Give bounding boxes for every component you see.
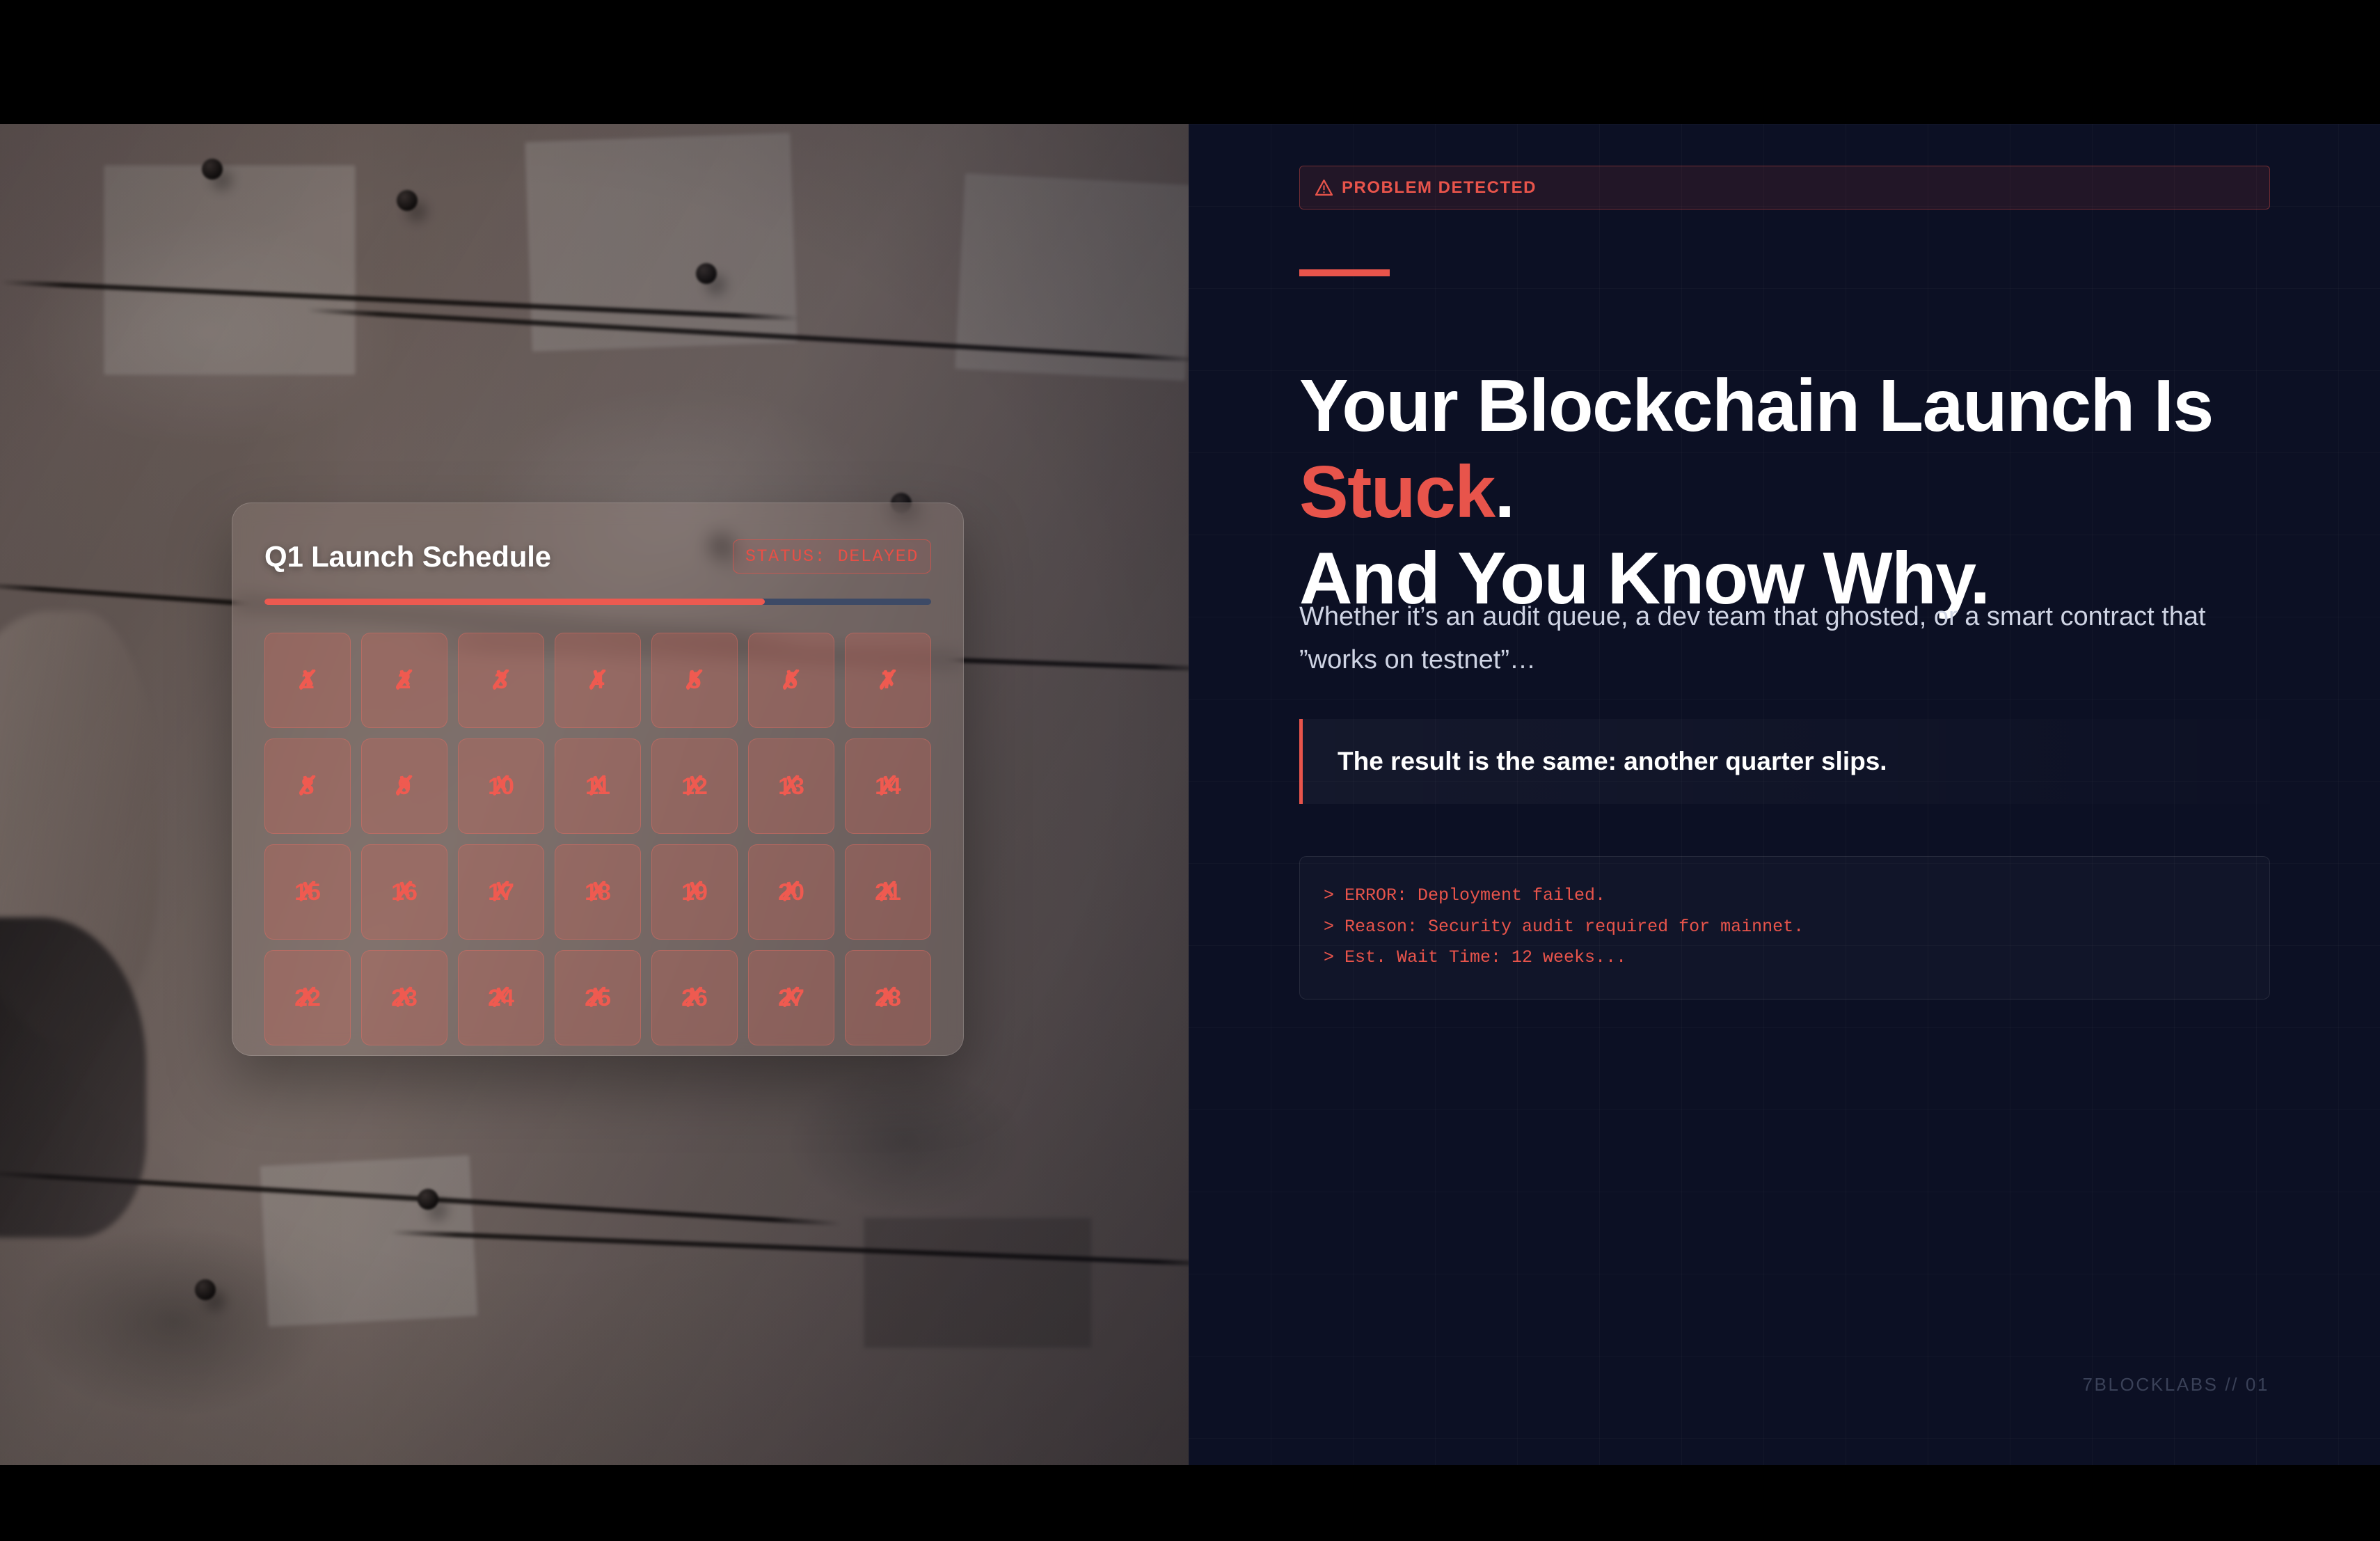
cross-out-icon: ✗ — [490, 667, 512, 694]
cross-out-icon: ✗ — [587, 879, 609, 906]
schedule-cell[interactable]: 18✗ — [555, 844, 641, 940]
schedule-cell[interactable]: 21✗ — [845, 844, 931, 940]
schedule-cell[interactable]: 12✗ — [651, 738, 738, 834]
page-title: Your Blockchain Launch Is Stuck. And You… — [1299, 363, 2270, 622]
cross-out-icon: ✗ — [490, 773, 512, 800]
schedule-cell[interactable]: 24✗ — [458, 950, 544, 1045]
schedule-cell[interactable]: 25✗ — [555, 950, 641, 1045]
headline-line-1: Your Blockchain Launch Is — [1299, 365, 2213, 447]
progress-bar-track — [264, 599, 931, 605]
accent-rule — [1299, 269, 1390, 276]
cross-out-icon: ✗ — [877, 985, 899, 1011]
cross-out-icon: ✗ — [780, 985, 802, 1011]
cross-out-icon: ✗ — [393, 879, 415, 906]
cross-out-icon: ✗ — [393, 773, 415, 800]
schedule-cell[interactable]: 16✗ — [361, 844, 447, 940]
warning-triangle-icon — [1315, 180, 1333, 196]
error-terminal: > ERROR: Deployment failed.> Reason: Sec… — [1299, 856, 2270, 999]
schedule-cell[interactable]: 23✗ — [361, 950, 447, 1045]
slide-content-band: Q1 Launch Schedule STATUS: DELAYED 1✗2✗3… — [0, 124, 2380, 1465]
footer-brand-mark: 7BLOCKLABS // 01 — [2082, 1374, 2269, 1396]
schedule-cell[interactable]: 17✗ — [458, 844, 544, 940]
cross-out-icon: ✗ — [296, 667, 319, 694]
cross-out-icon: ✗ — [296, 773, 319, 800]
cross-out-icon: ✗ — [296, 985, 319, 1011]
card-header: Q1 Launch Schedule STATUS: DELAYED — [264, 539, 931, 574]
panel-content: PROBLEM DETECTED Your Blockchain Launch … — [1299, 124, 2270, 1465]
card-title: Q1 Launch Schedule — [264, 540, 551, 574]
schedule-cell[interactable]: 22✗ — [264, 950, 351, 1045]
cross-out-icon: ✗ — [877, 773, 899, 800]
schedule-cell[interactable]: 6✗ — [748, 633, 834, 728]
schedule-cell[interactable]: 19✗ — [651, 844, 738, 940]
content-panel: PROBLEM DETECTED Your Blockchain Launch … — [1189, 124, 2380, 1465]
cross-out-icon: ✗ — [393, 667, 415, 694]
cross-out-icon: ✗ — [877, 879, 899, 906]
terminal-line: > ERROR: Deployment failed. — [1324, 880, 2246, 912]
schedule-cell[interactable]: 9✗ — [361, 738, 447, 834]
schedule-grid: 1✗2✗3✗4✗5✗6✗7✗8✗9✗10✗11✗12✗13✗14✗15✗16✗1… — [264, 633, 931, 1045]
cross-out-icon: ✗ — [780, 773, 802, 800]
schedule-cell[interactable]: 7✗ — [845, 633, 931, 728]
schedule-cell[interactable]: 1✗ — [264, 633, 351, 728]
result-callout: The result is the same: another quarter … — [1299, 719, 2270, 804]
schedule-cell[interactable]: 3✗ — [458, 633, 544, 728]
schedule-cell[interactable]: 13✗ — [748, 738, 834, 834]
schedule-cell[interactable]: 20✗ — [748, 844, 834, 940]
subtext-paragraph: Whether it’s an audit queue, a dev team … — [1299, 596, 2232, 681]
progress-bar-fill — [264, 599, 765, 605]
cross-out-icon: ✗ — [490, 985, 512, 1011]
terminal-line: > Reason: Security audit required for ma… — [1324, 912, 2246, 943]
schedule-cell[interactable]: 8✗ — [264, 738, 351, 834]
result-callout-text: The result is the same: another quarter … — [1338, 747, 1887, 776]
schedule-cell[interactable]: 26✗ — [651, 950, 738, 1045]
schedule-cell[interactable]: 5✗ — [651, 633, 738, 728]
cross-out-icon: ✗ — [683, 985, 706, 1011]
background-photo-panel: Q1 Launch Schedule STATUS: DELAYED 1✗2✗3… — [0, 124, 1189, 1465]
schedule-cell[interactable]: 27✗ — [748, 950, 834, 1045]
cross-out-icon: ✗ — [296, 879, 319, 906]
cross-out-icon: ✗ — [587, 667, 609, 694]
slide-canvas: Q1 Launch Schedule STATUS: DELAYED 1✗2✗3… — [0, 0, 2380, 1541]
terminal-line: > Est. Wait Time: 12 weeks... — [1324, 942, 2246, 974]
problem-detected-banner: PROBLEM DETECTED — [1299, 166, 2270, 210]
schedule-cell[interactable]: 28✗ — [845, 950, 931, 1045]
headline-accent-word: Stuck — [1299, 451, 1495, 533]
problem-detected-label: PROBLEM DETECTED — [1342, 178, 1537, 198]
cross-out-icon: ✗ — [683, 879, 706, 906]
cross-out-icon: ✗ — [587, 773, 609, 800]
cross-out-icon: ✗ — [683, 773, 706, 800]
launch-schedule-card[interactable]: Q1 Launch Schedule STATUS: DELAYED 1✗2✗3… — [232, 503, 964, 1056]
schedule-cell[interactable]: 11✗ — [555, 738, 641, 834]
schedule-cell[interactable]: 2✗ — [361, 633, 447, 728]
cross-out-icon: ✗ — [877, 667, 899, 694]
cross-out-icon: ✗ — [780, 879, 802, 906]
schedule-cell[interactable]: 15✗ — [264, 844, 351, 940]
status-badge: STATUS: DELAYED — [733, 539, 931, 574]
schedule-cell[interactable]: 14✗ — [845, 738, 931, 834]
cross-out-icon: ✗ — [490, 879, 512, 906]
schedule-cell[interactable]: 4✗ — [555, 633, 641, 728]
cross-out-icon: ✗ — [393, 985, 415, 1011]
cross-out-icon: ✗ — [780, 667, 802, 694]
headline-period: . — [1495, 451, 1514, 533]
schedule-cell[interactable]: 10✗ — [458, 738, 544, 834]
cross-out-icon: ✗ — [683, 667, 706, 694]
cross-out-icon: ✗ — [587, 985, 609, 1011]
